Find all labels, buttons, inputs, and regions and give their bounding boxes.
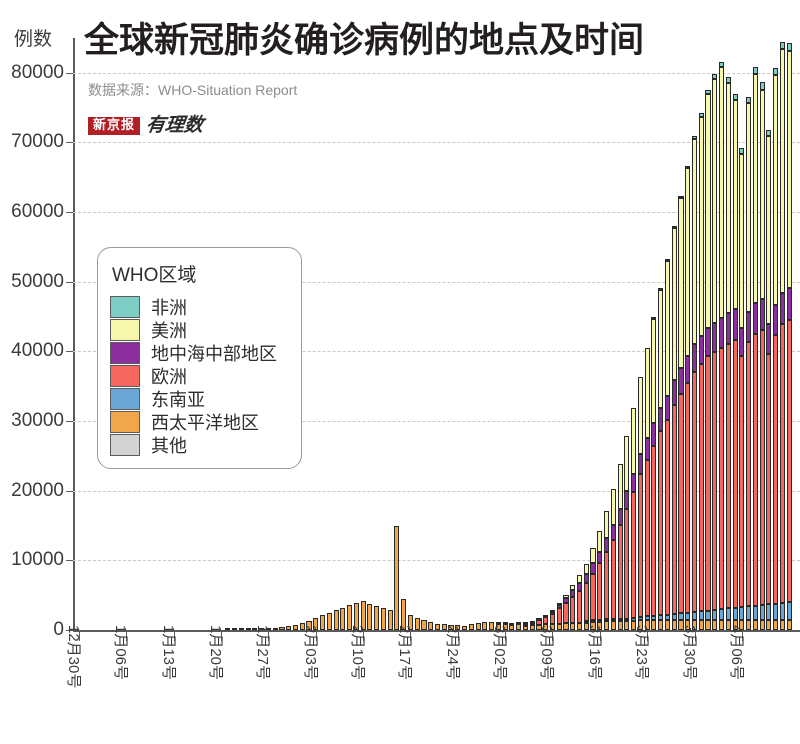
bar-segment [685,383,690,613]
bar-segment [476,623,481,630]
bar-segment [739,154,744,328]
bar [618,464,623,630]
bar-segment [712,79,717,323]
bar-segment [597,552,602,564]
bar-segment [604,511,609,539]
bar-segment [672,380,677,405]
y-axis-tick-label: 30000 [11,410,64,432]
bar-segment [658,431,663,615]
bar-segment [631,408,636,474]
bar-segment [733,340,738,608]
bar-segment [327,613,332,630]
bar-segment [766,354,771,605]
bar-segment [773,335,778,603]
bar-segment [597,563,602,619]
bar-segment [597,531,602,552]
bar-segment [563,603,568,624]
bar [651,317,656,630]
bar-segment [672,405,677,614]
bar-segment [746,342,751,607]
bar-segment [760,605,765,620]
y-axis-tick [66,142,73,143]
bar-segment [773,75,778,305]
bar [476,623,481,630]
bar-segment [678,613,683,620]
bar-segment [726,83,731,313]
bar-segment [766,604,771,620]
bar [692,136,697,630]
bar [428,622,433,630]
bar-segment [435,624,440,630]
bar-segment [739,607,744,620]
legend-item[interactable]: 美洲 [110,318,289,341]
bar-segment [381,608,386,630]
bar-segment [624,436,629,492]
bar-segment [760,82,765,89]
bar-segment [624,621,629,630]
y-axis-tick-label: 80000 [11,62,64,84]
bar-segment [787,51,792,288]
bar [638,377,643,630]
y-axis-tick [66,491,73,492]
bar-segment [570,623,575,630]
legend-swatch [110,365,140,387]
bar-segment [746,103,751,312]
x-axis-tick-label: 2月24号 [443,625,464,680]
bar-segment [719,67,724,318]
legend-item[interactable]: 欧洲 [110,364,289,387]
legend-item[interactable]: 非洲 [110,295,289,318]
bar-segment [651,423,656,446]
bar [746,97,751,630]
bar-segment [733,100,738,309]
x-axis-tick-label: 4月06号 [727,625,748,680]
bar-segment [658,620,663,630]
bar-segment [726,344,731,609]
bar-segment [618,509,623,525]
bar-segment [651,446,656,616]
bar [739,148,744,630]
bar [421,620,426,630]
bar [753,67,758,630]
bar-segment [685,168,690,356]
bar [760,82,765,630]
bar-segment [516,624,521,630]
y-axis-label: 例数 [14,24,52,51]
y-axis-tick [66,421,73,422]
bar-segment [712,352,717,610]
bar-segment [699,336,704,364]
bar [658,288,663,630]
bar-segment [482,622,487,630]
bar [482,622,487,630]
bar-segment [753,620,758,630]
bar-segment [753,67,758,74]
bar-segment [787,320,792,602]
bar [705,90,710,630]
bar-segment [658,408,663,432]
y-axis-tick-label: 10000 [11,549,64,571]
bar [516,622,521,630]
y-axis-tick-label: 50000 [11,271,64,293]
chart-legend: WHO区域 非洲美洲地中海中部地区欧洲东南亚西太平洋地区其他 [97,247,302,469]
bar-segment [577,591,582,623]
bar-segment [469,624,474,630]
y-axis-tick [66,351,73,352]
bar-segment [787,288,792,320]
bar-segment [645,438,650,460]
bar-segment [584,564,589,575]
bar-segment [685,356,690,382]
bar-segment [624,509,629,619]
bar-segment [340,608,345,630]
bar [597,531,602,630]
bar-segment [705,611,710,621]
bar [286,626,291,630]
y-axis-tick [66,560,73,561]
bar [246,629,251,631]
bar-segment [618,525,623,619]
bar-segment [584,574,589,583]
x-axis-tick-label: 2月17号 [395,625,416,680]
bar-segment [658,290,663,408]
bar-segment [388,610,393,630]
bar-segment [584,583,589,620]
y-axis-tick-label: 60000 [11,201,64,223]
bar [719,62,724,630]
bar-segment [665,620,670,630]
bar [665,259,670,630]
bar-segment [780,324,785,603]
bar-segment [712,610,717,620]
bar-segment [672,228,677,381]
bar-segment [705,356,710,610]
bar [394,526,399,630]
bar-segment [665,261,670,396]
bar-segment [712,620,717,630]
bar [699,113,704,630]
x-axis-tick-label: 2月10号 [348,625,369,680]
bar [604,511,609,630]
legend-swatch [110,411,140,433]
bar [645,348,650,630]
x-axis-tick-label: 3月09号 [537,625,558,680]
bar-segment [760,330,765,605]
legend-title: WHO区域 [112,260,289,287]
y-axis-tick-label: 40000 [11,340,64,362]
bar [239,629,244,631]
bar [766,130,771,630]
bar-segment [746,606,751,620]
bar-segment [618,621,623,630]
bar [624,436,629,630]
legend-swatch [110,319,140,341]
bar-segment [692,372,697,612]
bar-segment [760,299,765,330]
bar-segment [246,628,251,630]
bar-segment [570,597,575,623]
bar-segment [773,604,778,621]
bar [577,575,582,630]
bar-segment [726,608,731,620]
legend-item-label: 其他 [151,432,187,458]
bar-segment [611,489,616,525]
bar [293,625,298,630]
bar-segment [421,620,426,630]
x-axis-tick-label: 1月20号 [206,625,227,680]
bar-segment [624,491,629,508]
bar-segment [645,348,650,439]
bar-segment [753,606,758,621]
bar-segment [787,602,792,620]
y-axis-line [73,38,75,632]
bar-segment [719,318,724,348]
bar-segment [631,474,636,493]
bar-segment [726,313,731,344]
bar-segment [577,575,582,583]
bar-segment [699,364,704,611]
bar-segment [563,623,568,630]
bar-segment [665,396,670,420]
bar-segment [773,620,778,630]
bar-segment [705,620,710,630]
bar-segment [753,74,758,304]
bar [631,407,636,630]
gridline [73,73,800,74]
bar-segment [699,117,704,336]
bar-segment [719,348,724,609]
bar-segment [692,612,697,620]
legend-items: 非洲美洲地中海中部地区欧洲东南亚西太平洋地区其他 [110,295,289,456]
bar-segment [232,628,237,630]
bar-segment [780,49,785,293]
bar [685,166,690,630]
legend-swatch [110,388,140,410]
x-axis-tick-label: 1月06号 [111,625,132,680]
bar-segment [672,620,677,630]
x-axis-tick-label: 3月23号 [632,625,653,680]
bar-segment [705,328,710,357]
bar [733,94,738,630]
bar-segment [293,625,298,630]
bar-segment [543,617,548,625]
bar [570,585,575,630]
bar-segment [678,394,683,613]
legend-item[interactable]: 地中海中部地区 [110,341,289,364]
bar-segment [753,334,758,606]
bar [435,624,440,630]
bar-segment [787,620,792,630]
bar [712,74,717,630]
y-axis-tick-label: 70000 [11,131,64,153]
bar-segment [705,94,710,327]
bar-segment [665,420,670,614]
bar-segment [780,293,785,324]
bar-segment [550,614,555,624]
bar [327,613,332,630]
bar-segment [699,611,704,620]
y-axis-tick [66,212,73,213]
bar-segment [557,608,562,624]
bar-segment [719,609,724,620]
bar-segment [279,627,284,630]
bar [773,68,778,630]
bar-segment [766,620,771,630]
bar-segment [746,312,751,342]
bar [334,610,339,630]
bar [563,595,568,630]
bar-segment [766,130,771,137]
bar-segment [604,538,609,551]
bar-segment [753,303,758,334]
bar-segment [590,563,595,573]
x-axis-tick-label: 3月16号 [585,625,606,680]
bar-segment [685,613,690,621]
bar-segment [733,608,738,621]
bar-segment [530,625,535,630]
bar-segment [428,622,433,630]
legend-swatch [110,434,140,456]
bar [232,629,237,631]
bar [279,627,284,630]
bar [340,608,345,630]
legend-item[interactable]: 东南亚 [110,387,289,410]
bar-segment [787,43,792,51]
bar [726,77,731,630]
bar-segment [577,583,582,591]
x-axis-tick-label: 12月30号 [64,625,85,688]
bar-segment [712,323,717,352]
bar-segment [604,552,609,620]
bar-segment [766,324,771,353]
x-axis-tick-label: 3月02号 [490,625,511,680]
bar-segment [286,626,291,630]
legend-item[interactable]: 西太平洋地区 [110,410,289,433]
y-axis-tick [66,282,73,283]
bar-segment [618,464,623,509]
bar-segment [590,574,595,620]
bar [780,41,785,630]
bar-segment [780,603,785,620]
bar-segment [678,368,683,394]
bar-segment [638,454,643,474]
bar-segment [739,356,744,607]
bar [388,610,393,630]
bar [374,606,379,630]
legend-swatch [110,296,140,318]
bar-segment [651,319,656,423]
bar-segment [719,620,724,630]
bar-segment [638,377,643,454]
bar-segment [645,460,650,617]
bar-segment [780,42,785,50]
bar-segment [611,525,616,540]
x-axis-tick-label: 1月13号 [159,625,180,680]
bar-segment [766,136,771,324]
x-axis-tick-label: 3月30号 [680,625,701,680]
bar-segment [760,90,765,299]
legend-swatch [110,342,140,364]
bar-segment [780,620,785,630]
x-axis-tick-label: 1月27号 [253,625,274,680]
bar-segment [760,620,765,630]
bar-segment [394,526,399,630]
bar-segment [590,548,595,563]
bar-segment [739,328,744,357]
bar-segment [374,606,379,630]
bar-segment [611,540,616,620]
bar-segment [678,198,683,369]
bar [787,43,792,630]
y-axis-tick [66,73,73,74]
bar-segment [692,139,697,344]
bar-segment [523,626,528,630]
bar [678,196,683,630]
y-axis-tick-label: 0 [53,619,64,641]
bar [672,226,677,631]
bar [469,624,474,630]
bar-segment [733,309,738,340]
bar [523,622,528,630]
bar-segment [773,305,778,336]
bar [590,548,595,630]
bar-segment [692,344,697,371]
bar-segment [631,492,636,617]
bar-segment [638,474,643,617]
bar-segment [577,623,582,630]
y-axis-tick-label: 20000 [11,480,64,502]
bar-segment [239,628,244,630]
bar [530,621,535,630]
bar-segment [611,621,616,630]
bar [584,564,589,631]
legend-item[interactable]: 其他 [110,433,289,456]
bar-segment [334,610,339,630]
bar [611,489,616,630]
bar-segment [773,68,778,75]
bar [381,608,386,630]
x-axis-tick-label: 2月03号 [301,625,322,680]
